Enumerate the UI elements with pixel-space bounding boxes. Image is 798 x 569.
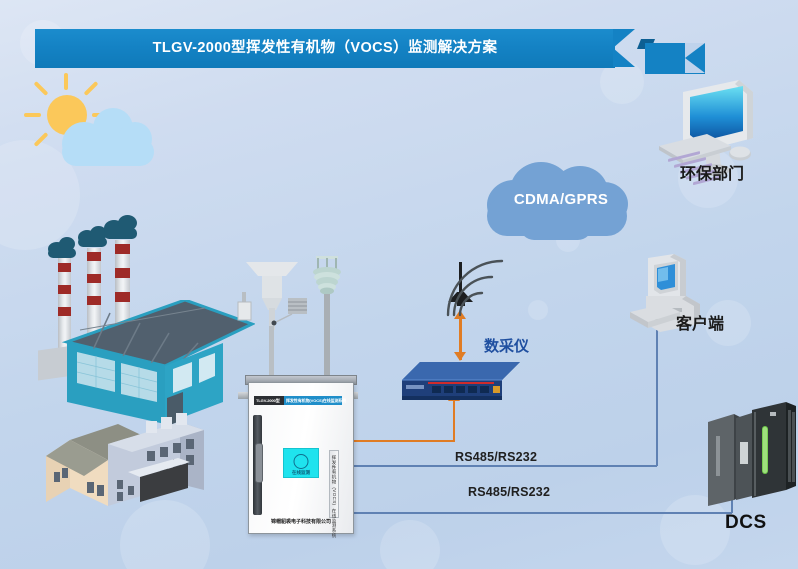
banner-flag-tail <box>645 43 705 74</box>
sun-ray <box>34 132 49 147</box>
sun-ray <box>24 113 41 117</box>
cabinet-side-strip: 挥发性有机物（VOCS）在线监测系统 <box>329 450 339 518</box>
cabinet-model-label: TLGV-2000型 <box>256 396 280 405</box>
page-title: TLGV-2000型挥发性有机物（VOCS）监测解决方案 <box>35 29 615 68</box>
header-banner: TLGV-2000型挥发性有机物（VOCS）监测解决方案 <box>35 29 680 68</box>
env-department-label: 环保部门 <box>680 160 744 184</box>
serial-label-lower: RS485/RS232 <box>468 485 550 499</box>
cabinet-display-screen[interactable]: 在线监测 <box>283 448 319 478</box>
warehouse-shapes <box>28 410 218 535</box>
sun-ray <box>84 81 99 96</box>
display-gauge-icon <box>294 454 309 469</box>
dcs-label: DCS <box>725 512 767 534</box>
display-caption: 在线监测 <box>284 470 318 476</box>
banner-notch <box>613 29 635 67</box>
cabinet-system-label: 挥发性有机物(VOCS)在线监测系统 <box>286 396 346 405</box>
client-label: 客户端 <box>676 310 724 334</box>
sun-ray <box>34 81 49 96</box>
cabinet-company-label: 锦帽貂裘电子科技有限公司 <box>249 518 353 525</box>
data-collector-device <box>398 360 518 402</box>
cabinet-side-text: 挥发性有机物（VOCS）在线监测系统 <box>331 455 337 538</box>
data-collector-label: 数采仪 <box>484 335 529 356</box>
cabinet-handle[interactable] <box>255 443 263 483</box>
cdma-gprs-label: CDMA/GPRS <box>496 191 626 208</box>
decor-bubble <box>380 520 440 569</box>
diagram-canvas: TLGV-2000型挥发性有机物（VOCS）监测解决方案 CDMA/GPRS <box>0 0 798 569</box>
sun-ray <box>64 73 68 90</box>
cabinet-header-strip: TLGV-2000型 挥发性有机物(VOCS)在线监测系统 <box>254 396 342 405</box>
serial-label-upper: RS485/RS232 <box>455 450 537 464</box>
